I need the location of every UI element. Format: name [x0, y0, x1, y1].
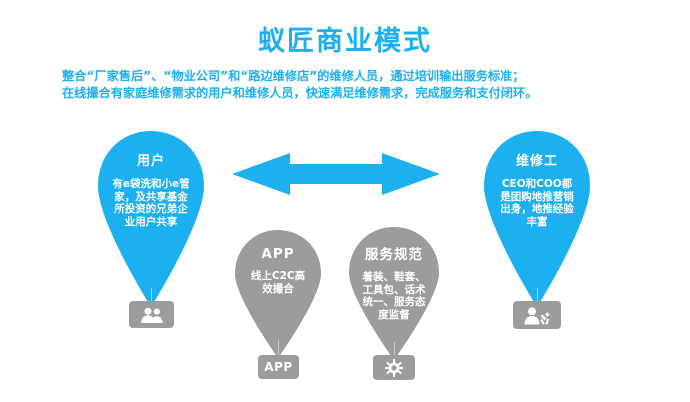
balloon-shape-service-standard [349, 227, 439, 360]
basket-app-label: APP [264, 360, 292, 374]
balloon-string-repairman [537, 288, 538, 302]
balloon-repairman[interactable]: 维修工 CEO和COO都是团购地推营销出身，地推经验丰富 [484, 131, 590, 307]
balloon-shape-repairman [484, 131, 590, 307]
basket-app[interactable]: APP [258, 355, 299, 379]
bidirectional-arrow [232, 152, 440, 196]
subtitle-line-1: 整合“厂家售后”、“物业公司”和“路边维修店”的维修人员，通过培训输出服务标准； [62, 68, 628, 85]
gear-icon [385, 359, 403, 377]
balloon-user-body: 用户 有e袋洗和小e管家，及共享基金所投资的兄弟企业用户共享 [98, 131, 204, 307]
balloon-app[interactable]: APP 线上C2C高效撮合 [235, 230, 321, 358]
balloon-service-standard-body: 服务规范 着装、鞋套、工具包、话术统一、服务态度监督 [349, 227, 439, 360]
basket-service-standard[interactable] [373, 355, 415, 380]
balloon-app-body: APP 线上C2C高效撮合 [235, 230, 321, 358]
basket-repairman[interactable] [513, 301, 561, 329]
worker-wrench-icon [522, 306, 552, 325]
users-icon [139, 306, 165, 324]
basket-user[interactable] [129, 301, 174, 328]
balloon-string-user [151, 288, 152, 302]
balloon-shape-app [235, 230, 321, 358]
balloon-string-app [278, 340, 279, 356]
subtitle-block: 整合“厂家售后”、“物业公司”和“路边维修店”的维修人员，通过培训输出服务标准；… [62, 68, 628, 102]
balloon-repairman-body: 维修工 CEO和COO都是团购地推营销出身，地推经验丰富 [484, 131, 590, 307]
balloon-shape-user [98, 131, 204, 307]
balloon-string-service-standard [394, 342, 395, 356]
balloon-user[interactable]: 用户 有e袋洗和小e管家，及共享基金所投资的兄弟企业用户共享 [98, 131, 204, 307]
balloon-service-standard[interactable]: 服务规范 着装、鞋套、工具包、话术统一、服务态度监督 [349, 227, 439, 360]
slide-canvas: 蚁匠商业模式 整合“厂家售后”、“物业公司”和“路边维修店”的维修人员，通过培训… [0, 0, 690, 402]
page-title: 蚁匠商业模式 [0, 27, 690, 57]
subtitle-line-2: 在线撮合有家庭维修需求的用户和维修人员，快速满足维修需求，完成服务和支付闭环。 [62, 85, 628, 102]
